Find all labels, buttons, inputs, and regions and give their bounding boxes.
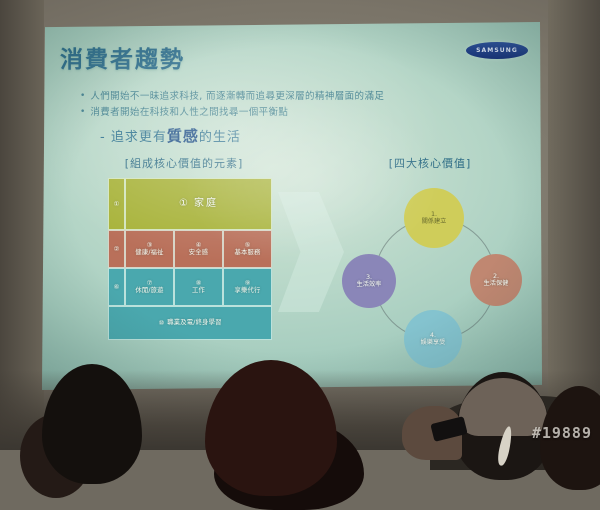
- cell-label: 工作: [192, 287, 205, 295]
- table-spine-cell: ②: [108, 230, 125, 268]
- node-label: 娛樂享受: [421, 339, 446, 347]
- cell-label: 健康/福祉: [135, 249, 163, 257]
- cell-number: ⑤: [245, 241, 251, 249]
- conference-room-background: 消費者趨勢 SAMSUNG • 人們開始不一昧追求科技, 而逐漸轉而追尋更深層的…: [0, 0, 600, 450]
- diagram-node-4: 4. 娛樂享受: [404, 310, 462, 368]
- table-cell: ⑤基本服務: [223, 230, 272, 268]
- node-number: 3.: [366, 273, 372, 281]
- cell-number: ⑧: [196, 279, 202, 287]
- diagram-node-2: 2. 生活保健: [470, 254, 522, 306]
- cell-label: 享樂代行: [235, 287, 261, 295]
- diagram-node-3: 3. 生活效率: [342, 254, 396, 308]
- table-row: ②③健康/福祉④安全感⑤基本服務: [108, 230, 272, 268]
- cell-number: ①: [114, 200, 120, 208]
- diagram-node-1: 1. 關係建立: [404, 188, 464, 248]
- table-cell: ⑨享樂代行: [223, 268, 272, 306]
- table-footer-cell: ⑩職業及電/終身學習: [108, 306, 272, 340]
- cell-number: ④: [196, 241, 202, 249]
- node-number: 4.: [430, 331, 436, 339]
- cell-number: ⑨: [245, 279, 251, 287]
- table-spine-cell: ①: [108, 178, 125, 230]
- cell-number: ②: [114, 245, 120, 253]
- node-number: 2.: [493, 272, 499, 280]
- cell-number: ①: [179, 200, 188, 208]
- cell-label: 職業及電/終身學習: [167, 319, 221, 327]
- cell-label: 休閒/旅遊: [135, 287, 163, 295]
- table-row: ①①家庭: [108, 178, 272, 230]
- bullet-dot-icon: •: [80, 106, 85, 119]
- table-cell: ③健康/福祉: [125, 230, 174, 268]
- cell-number: ⑩: [158, 319, 164, 327]
- bullet-list: • 人們開始不一昧追求科技, 而逐漸轉而追尋更深層的精神層面的滿足 • 消費者開…: [80, 90, 384, 122]
- node-label: 生活效率: [357, 281, 382, 289]
- sub-headline-emphasis: 質感: [167, 127, 199, 145]
- table-spine-cell: ⑥: [108, 268, 125, 306]
- cell-number: ⑥: [114, 283, 120, 291]
- node-label: 生活保健: [484, 280, 509, 288]
- table-row: ⑩職業及電/終身學習: [108, 306, 272, 340]
- samsung-logo-text: SAMSUNG: [476, 47, 518, 54]
- table-cell: ⑦休閒/旅遊: [125, 268, 174, 306]
- cell-label: 基本服務: [235, 249, 261, 257]
- node-label: 關係建立: [422, 218, 447, 226]
- bullet-text: 人們開始不一昧追求科技, 而逐漸轉而追尋更深層的精神層面的滿足: [90, 90, 384, 103]
- arrow-shape: [278, 192, 344, 312]
- sub-headline-suffix: 的生活: [199, 130, 241, 145]
- sub-headline-prefix: - 追求更有: [100, 130, 167, 145]
- table-cell: ⑧工作: [174, 268, 223, 306]
- core-value-elements-table: ①①家庭②③健康/福祉④安全感⑤基本服務⑥⑦休閒/旅遊⑧工作⑨享樂代行⑩職業及電…: [108, 178, 272, 340]
- projection-screen: 消費者趨勢 SAMSUNG • 人們開始不一昧追求科技, 而逐漸轉而追尋更深層的…: [42, 22, 542, 390]
- cell-number: ⑦: [147, 279, 153, 287]
- right-section-header: [四大核心價值]: [360, 155, 500, 171]
- four-core-values-diagram: 1. 關係建立 2. 生活保健 4. 娛樂享受 3. 生活效率: [342, 182, 522, 382]
- cell-label: 家庭: [194, 200, 218, 208]
- bullet-item: • 人們開始不一昧追求科技, 而逐漸轉而追尋更深層的精神層面的滿足: [80, 90, 384, 103]
- left-section-header: [組成核心價值的元素]: [94, 155, 274, 171]
- table-cell: ④安全感: [174, 230, 223, 268]
- table-cell: ①家庭: [125, 178, 272, 230]
- node-number: 1.: [431, 210, 437, 218]
- photo-watermark: #19889: [532, 424, 592, 442]
- slide-title: 消費者趨勢: [60, 40, 185, 74]
- samsung-logo: SAMSUNG: [466, 42, 528, 59]
- sub-headline: - 追求更有質感的生活: [100, 125, 241, 146]
- bullet-dot-icon: •: [80, 90, 85, 103]
- cell-label: 安全感: [189, 249, 209, 257]
- bullet-item: • 消費者開始在科技和人性之間找尋一個平衡點: [80, 106, 384, 119]
- bullet-text: 消費者開始在科技和人性之間找尋一個平衡點: [90, 106, 288, 119]
- cell-number: ③: [147, 241, 153, 249]
- presentation-slide: 消費者趨勢 SAMSUNG • 人們開始不一昧追求科技, 而逐漸轉而追尋更深層的…: [42, 22, 542, 390]
- table-row: ⑥⑦休閒/旅遊⑧工作⑨享樂代行: [108, 268, 272, 306]
